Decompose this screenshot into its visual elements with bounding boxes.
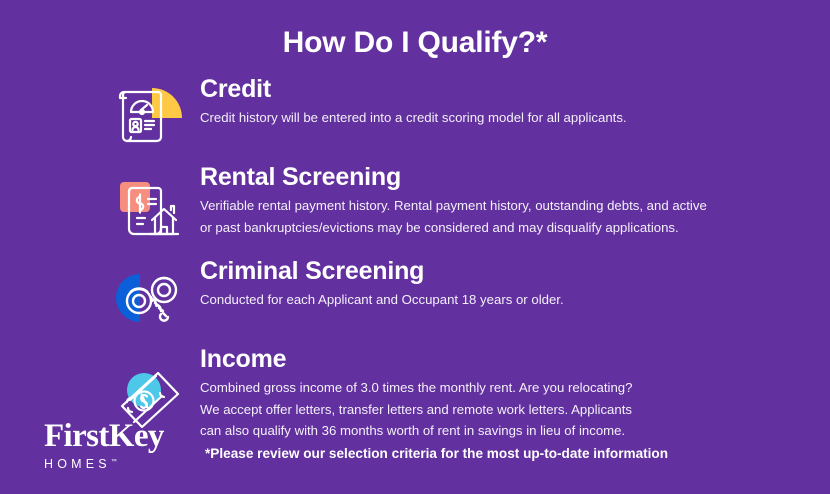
credit-body-line: Credit history will be entered into a cr…: [200, 107, 627, 128]
qualification-infographic: How Do I Qualify?*: [0, 0, 830, 494]
rental-screening-body-line: Verifiable rental payment history. Renta…: [200, 195, 707, 216]
credit-report-gauge-icon: [112, 82, 188, 148]
firstkey-homes-logo: FirstKey HOMES™: [44, 420, 204, 471]
income-heading: Income: [200, 346, 632, 372]
page-title: How Do I Qualify?*: [0, 0, 830, 60]
credit-heading: Credit: [200, 76, 627, 102]
rental-screening-body-line: or past bankruptcies/evictions may be co…: [200, 217, 707, 238]
logo-subtitle-text: HOMES: [44, 457, 111, 471]
criminal-screening-text: Criminal Screening Conducted for each Ap…: [188, 256, 564, 311]
rent-receipt-house-icon: [112, 176, 188, 242]
criminal-screening-body: Conducted for each Applicant and Occupan…: [200, 289, 564, 310]
logo-wordmark: FirstKey: [44, 420, 204, 453]
handcuffs-icon: [112, 266, 188, 332]
footer: FirstKey HOMES™ *Please review our selec…: [0, 412, 830, 486]
credit-text: Credit Credit history will be entered in…: [188, 74, 627, 129]
criminal-screening-body-line: Conducted for each Applicant and Occupan…: [200, 289, 564, 310]
disclaimer-text: *Please review our selection criteria fo…: [205, 446, 668, 461]
criminal-screening-heading: Criminal Screening: [200, 258, 564, 284]
criteria-sections: Credit Credit history will be entered in…: [0, 74, 830, 441]
section-credit: Credit Credit history will be entered in…: [0, 74, 830, 148]
income-body-line: Combined gross income of 3.0 times the m…: [200, 377, 632, 398]
section-criminal-screening: Criminal Screening Conducted for each Ap…: [0, 256, 830, 332]
rental-screening-text: Rental Screening Verifiable rental payme…: [188, 162, 707, 238]
trademark-symbol: ™: [111, 459, 117, 465]
logo-subtitle: HOMES™: [44, 457, 204, 471]
rental-screening-body: Verifiable rental payment history. Renta…: [200, 195, 707, 238]
section-rental-screening: Rental Screening Verifiable rental payme…: [0, 162, 830, 242]
rental-screening-heading: Rental Screening: [200, 164, 707, 190]
credit-body: Credit history will be entered into a cr…: [200, 107, 627, 128]
